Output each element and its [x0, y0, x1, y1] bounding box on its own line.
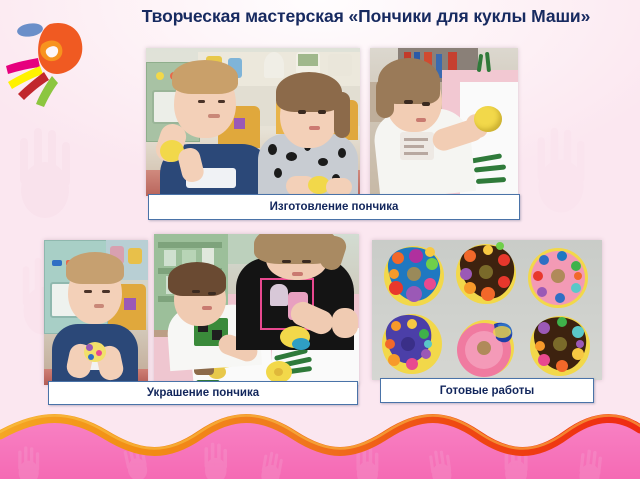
caption-decorating: Украшение пончика [48, 381, 358, 405]
photo-finished-works [372, 240, 602, 380]
background-handprint-watermark [528, 120, 594, 224]
photo-making-1 [146, 48, 360, 196]
photo-decorating-1 [44, 240, 148, 385]
caption-making-label: Изготовление пончика [270, 201, 399, 213]
caption-making: Изготовление пончика [148, 194, 520, 220]
footer-decorative-wave [0, 409, 640, 479]
donut-5 [457, 320, 514, 377]
caption-finished-label: Готовые работы [440, 385, 534, 397]
photo-decorating-2 [154, 234, 359, 385]
background-handprint-watermark [10, 120, 80, 230]
handprint-logo [4, 14, 100, 110]
donut-2 [456, 242, 516, 304]
photo-making-2 [370, 48, 518, 196]
donut-4 [382, 314, 442, 374]
page-title: Творческая мастерская «Пончики для куклы… [96, 6, 636, 27]
donut-1 [384, 246, 444, 306]
donut-3 [528, 248, 588, 308]
caption-decorating-label: Украшение пончика [147, 387, 259, 399]
donuts-illustration [372, 240, 602, 380]
caption-finished: Готовые работы [380, 378, 594, 403]
slide-root: Творческая мастерская «Пончики для куклы… [0, 0, 640, 479]
donut-6 [530, 316, 590, 376]
